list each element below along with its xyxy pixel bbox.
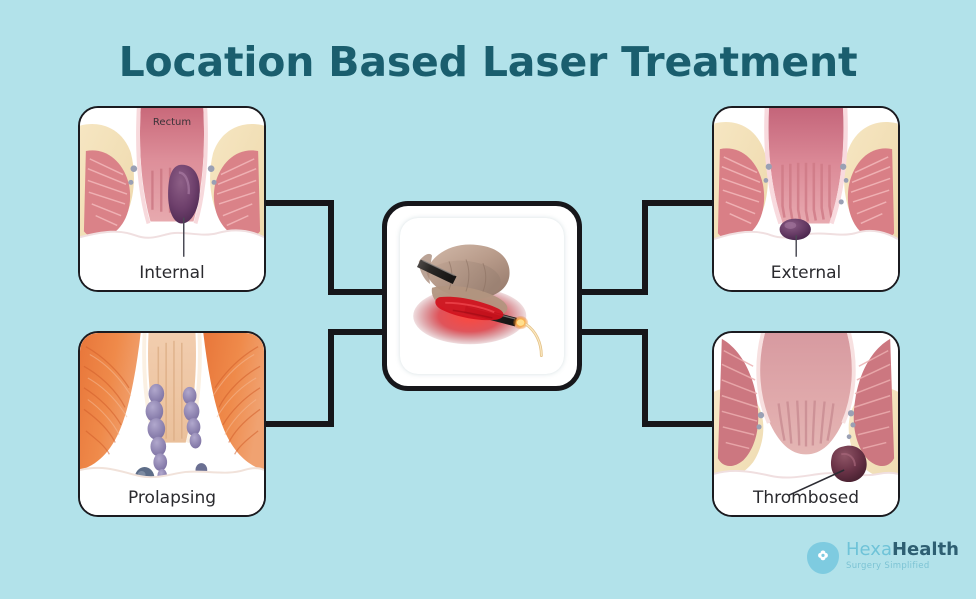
- card-internal-annotation: Rectum: [80, 117, 264, 128]
- hexagon-shield-cross-icon: [806, 541, 840, 575]
- connector-thrombosed: [582, 332, 712, 424]
- card-internal[interactable]: Rectum Internal: [78, 106, 266, 292]
- card-external-label: External: [714, 263, 898, 283]
- logo-name-light: Hexa: [846, 539, 892, 560]
- card-prolapsing[interactable]: Prolapsing: [78, 331, 266, 517]
- card-prolapsing-label: Prolapsing: [80, 488, 264, 508]
- logo-tagline: Surgery Simplified: [846, 562, 959, 571]
- card-thrombosed[interactable]: Thrombosed: [712, 331, 900, 517]
- logo-name: HexaHealth: [846, 541, 959, 559]
- connector-internal: [266, 203, 382, 292]
- laser-treatment-photo: [400, 218, 564, 374]
- center-image-frame: [400, 218, 564, 374]
- card-internal-label: Internal: [80, 263, 264, 283]
- logo-name-bold: Health: [892, 539, 959, 560]
- connector-external: [582, 203, 712, 292]
- card-external[interactable]: External: [712, 106, 900, 292]
- page-title: Location Based Laser Treatment: [0, 38, 976, 86]
- connector-prolapsing: [266, 332, 382, 424]
- center-hub[interactable]: [382, 201, 582, 391]
- card-thrombosed-label: Thrombosed: [714, 488, 898, 508]
- infographic-canvas: Location Based Laser Treatment: [0, 0, 976, 599]
- hexahealth-logo: HexaHealth Surgery Simplified: [806, 538, 956, 582]
